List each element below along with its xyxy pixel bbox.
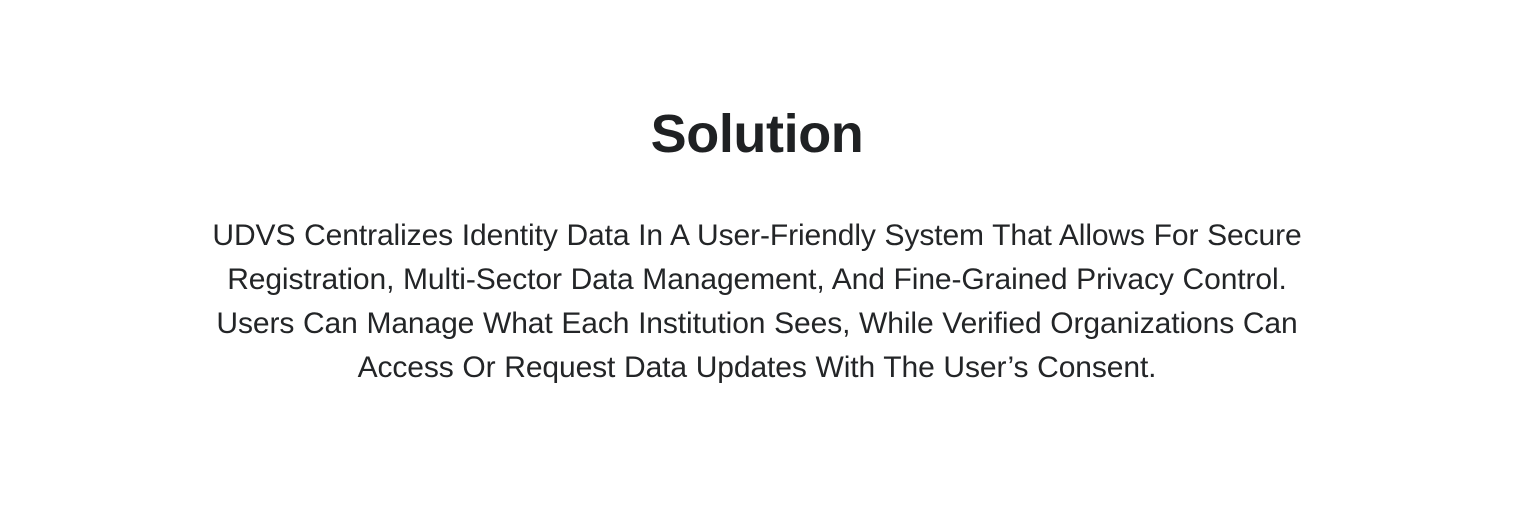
solution-section: Solution UDVS Centralizes Identity Data … — [0, 0, 1514, 530]
page-title: Solution — [651, 101, 864, 167]
section-description: UDVS Centralizes Identity Data In A User… — [212, 214, 1302, 390]
page-root: Solution UDVS Centralizes Identity Data … — [0, 0, 1514, 530]
